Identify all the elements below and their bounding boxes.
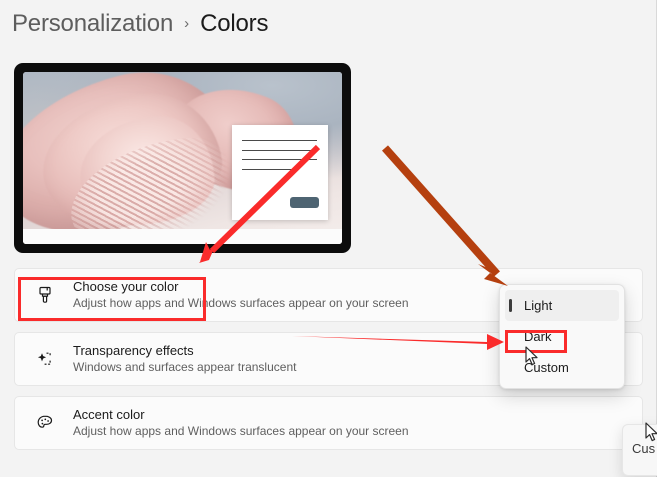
edge-flyout-partial[interactable]: Cus (622, 424, 657, 476)
desktop-preview (14, 63, 351, 253)
dropdown-option-label: Dark (524, 329, 551, 344)
dropdown-option-label: Custom (524, 360, 569, 375)
dropdown-option-custom[interactable]: Custom (505, 352, 619, 383)
page-title-colors: Colors (200, 10, 268, 38)
mock-text-line (242, 150, 317, 151)
preview-screen (23, 72, 342, 244)
mock-text-line (242, 169, 292, 170)
arrow-to-dropdown (385, 148, 508, 286)
setting-title: Choose your color (73, 279, 409, 295)
breadcrumb: Personalization › Colors (12, 10, 268, 38)
mock-text-line (242, 140, 317, 141)
dropdown-option-light[interactable]: Light (505, 290, 619, 321)
setting-text: Transparency effects Windows and surface… (73, 343, 296, 375)
setting-title: Transparency effects (73, 343, 296, 359)
setting-subtitle: Adjust how apps and Windows surfaces app… (73, 424, 409, 439)
palette-icon (29, 413, 61, 433)
preview-mock-window (232, 125, 328, 220)
edge-flyout-label: Cus (632, 441, 655, 456)
breadcrumb-parent-personalization[interactable]: Personalization (12, 10, 173, 38)
setting-subtitle: Adjust how apps and Windows surfaces app… (73, 296, 409, 311)
dropdown-option-dark[interactable]: Dark (505, 321, 619, 352)
setting-text: Choose your color Adjust how apps and Wi… (73, 279, 409, 311)
choose-your-color-dropdown[interactable]: Light Dark Custom (499, 284, 625, 389)
mock-accent-button (290, 197, 319, 207)
setting-title: Accent color (73, 407, 409, 423)
mock-text-line (242, 159, 317, 160)
paintbrush-icon (29, 285, 61, 305)
setting-row-accent-color[interactable]: Accent color Adjust how apps and Windows… (14, 396, 643, 450)
setting-text: Accent color Adjust how apps and Windows… (73, 407, 409, 439)
dropdown-option-label: Light (524, 298, 552, 313)
preview-taskbar (23, 229, 342, 244)
setting-subtitle: Windows and surfaces appear translucent (73, 360, 296, 375)
sparkle-transparency-icon (29, 349, 61, 369)
chevron-right-icon: › (184, 15, 189, 32)
